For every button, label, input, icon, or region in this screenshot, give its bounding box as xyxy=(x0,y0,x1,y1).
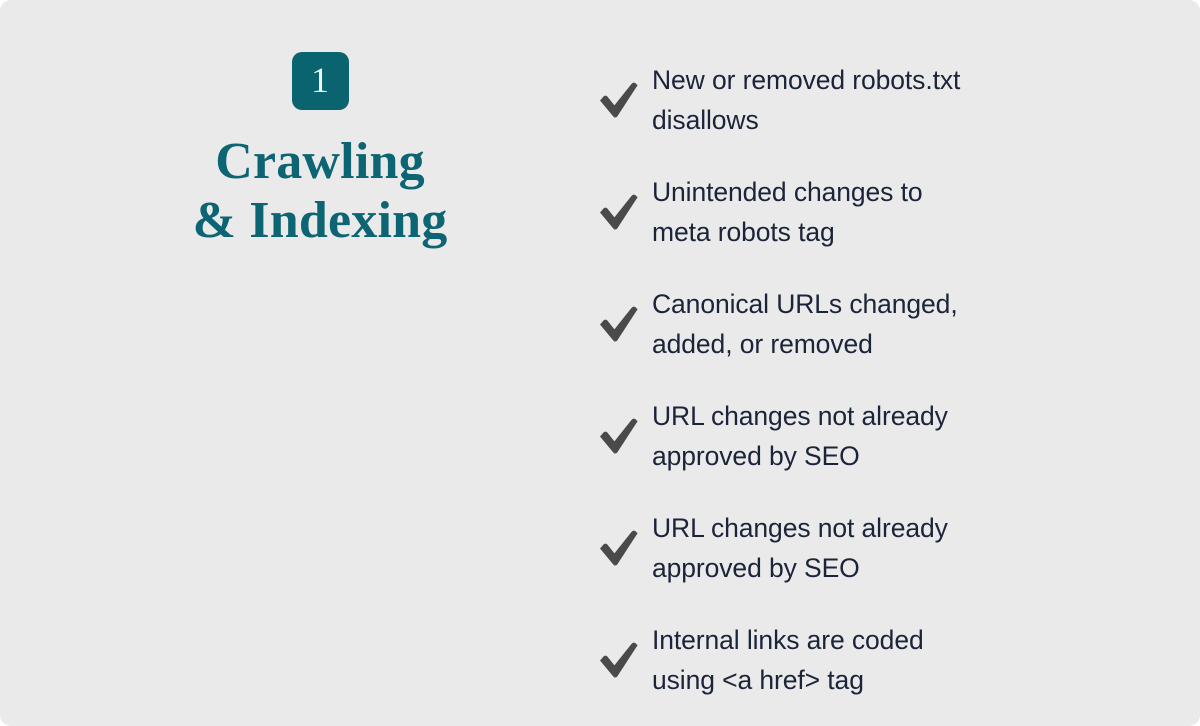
list-item: Unintended changes to meta robots tag xyxy=(596,156,1066,268)
section-title-line-2: & Indexing xyxy=(60,191,580,250)
step-number-label: 1 xyxy=(311,62,329,98)
list-item: URL changes not already approved by SEO xyxy=(596,492,1066,604)
checkmark-icon xyxy=(596,190,652,234)
checkmark-icon xyxy=(596,638,652,682)
list-item-text: URL changes not already approved by SEO xyxy=(652,508,1066,588)
list-item-text: Canonical URLs changed, added, or remove… xyxy=(652,284,1066,364)
checkmark-icon xyxy=(596,78,652,122)
step-number-badge: 1 xyxy=(292,52,349,110)
list-item-line-1: Canonical URLs changed, xyxy=(652,284,1066,324)
list-item: URL changes not already approved by SEO xyxy=(596,380,1066,492)
list-item: New or removed robots.txt disallows xyxy=(596,44,1066,156)
list-item-text: New or removed robots.txt disallows xyxy=(652,60,1066,140)
list-item-line-2: meta robots tag xyxy=(652,212,1066,252)
section-title-line-1: Crawling xyxy=(60,132,580,191)
section-title: Crawling & Indexing xyxy=(60,132,580,250)
list-item-line-1: URL changes not already xyxy=(652,508,1066,548)
list-item-line-1: URL changes not already xyxy=(652,396,1066,436)
list-item-line-2: disallows xyxy=(652,100,1066,140)
checklist: New or removed robots.txt disallows Unin… xyxy=(596,44,1066,716)
checkmark-icon xyxy=(596,302,652,346)
list-item-line-2: added, or removed xyxy=(652,324,1066,364)
list-item-line-2: using <a href> tag xyxy=(652,660,1066,700)
list-item-line-1: Internal links are coded xyxy=(652,620,1066,660)
list-item-line-2: approved by SEO xyxy=(652,548,1066,588)
list-item-text: URL changes not already approved by SEO xyxy=(652,396,1066,476)
list-item-text: Unintended changes to meta robots tag xyxy=(652,172,1066,252)
list-item-line-1: Unintended changes to xyxy=(652,172,1066,212)
list-item-line-2: approved by SEO xyxy=(652,436,1066,476)
section-header: 1 Crawling & Indexing xyxy=(60,40,580,250)
list-item-line-1: New or removed robots.txt xyxy=(652,60,1066,100)
checkmark-icon xyxy=(596,526,652,570)
list-item: Internal links are coded using <a href> … xyxy=(596,604,1066,716)
checklist-card: 1 Crawling & Indexing New or removed rob… xyxy=(0,0,1200,726)
list-item-text: Internal links are coded using <a href> … xyxy=(652,620,1066,700)
checkmark-icon xyxy=(596,414,652,458)
list-item: Canonical URLs changed, added, or remove… xyxy=(596,268,1066,380)
